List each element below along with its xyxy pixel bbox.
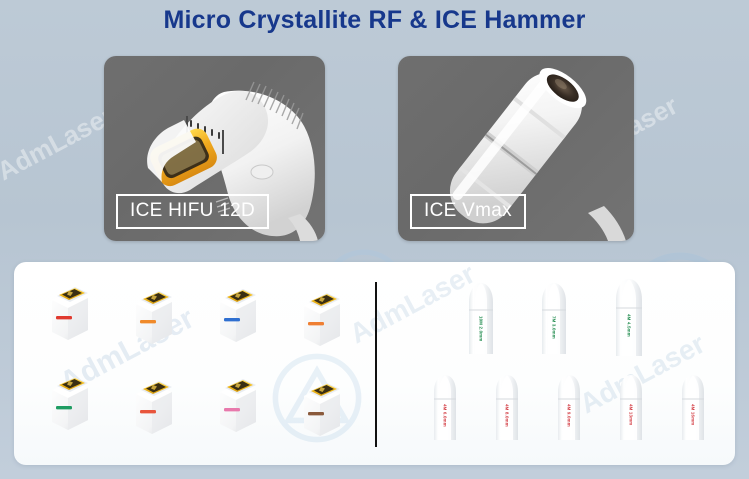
- hifu-stripe: [56, 406, 72, 409]
- vmax-cartridge-7[interactable]: 4M 13mm: [609, 372, 653, 444]
- hifu-stripe: [140, 410, 156, 413]
- hifu-stripe: [308, 412, 324, 415]
- vmax-cartridge-label: 4M 8.0mm: [504, 404, 508, 427]
- watermark-text: AdmLaser: [0, 100, 119, 187]
- product-label-ice-hifu-12d: ICE HIFU 12D: [116, 194, 269, 229]
- vmax-cartridge-label: 4M 16mm: [690, 404, 694, 425]
- page-title: Micro Crystallite RF & ICE Hammer: [0, 6, 749, 35]
- vmax-cartridge-label: 7M 3.0mm: [551, 316, 555, 339]
- hifu-stripe: [140, 320, 156, 323]
- hifu-cartridge-7[interactable]: [210, 372, 262, 434]
- product-card-ice-vmax[interactable]: ICE Vmax: [398, 56, 634, 241]
- hifu-cartridge-5[interactable]: [42, 370, 94, 432]
- hifu-cartridge-4[interactable]: [294, 286, 346, 348]
- hifu-cartridge-6[interactable]: [126, 374, 178, 436]
- product-label-ice-vmax: ICE Vmax: [410, 194, 526, 229]
- vmax-cartridge-label: 4M 9.0mm: [566, 404, 570, 427]
- hifu-stripe: [224, 318, 240, 321]
- vmax-cartridge-6[interactable]: 4M 9.0mm: [547, 372, 591, 444]
- vmax-cartridge-5[interactable]: 4M 8.0mm: [485, 372, 529, 444]
- hifu-cartridge-8[interactable]: [294, 376, 346, 438]
- panel-divider: [375, 282, 377, 447]
- banner-root: AdmLaser AdmLaser Micro Crystallite RF &…: [0, 0, 749, 479]
- vmax-cartridge-3[interactable]: 4M 4.5mm: [603, 276, 655, 360]
- vmax-cartridge-label: 4M 13mm: [628, 404, 632, 425]
- hifu-cartridge-1[interactable]: [42, 280, 94, 342]
- hifu-stripe: [56, 316, 72, 319]
- vmax-cartridge-4[interactable]: 4M 6.0mm: [423, 372, 467, 444]
- vmax-cartridge-2[interactable]: 7M 3.0mm: [530, 280, 578, 358]
- hifu-cartridge-2[interactable]: [126, 284, 178, 346]
- vmax-cartridge-label: 10M 2.0mm: [478, 316, 482, 341]
- hifu-cartridge-3[interactable]: [210, 282, 262, 344]
- hifu-stripe: [308, 322, 324, 325]
- hifu-stripe: [224, 408, 240, 411]
- vmax-cartridge-label: 4M 4.5mm: [626, 314, 630, 337]
- vmax-cartridge-1[interactable]: 10M 2.0mm: [457, 280, 505, 358]
- vmax-cartridge-8[interactable]: 4M 16mm: [671, 372, 715, 444]
- product-card-ice-hifu-12d[interactable]: ICE HIFU 12D: [104, 56, 325, 241]
- cartridge-panel: AdmLaser AdmLaser AdmLaser: [14, 262, 735, 465]
- vmax-cartridge-label: 4M 6.0mm: [442, 404, 446, 427]
